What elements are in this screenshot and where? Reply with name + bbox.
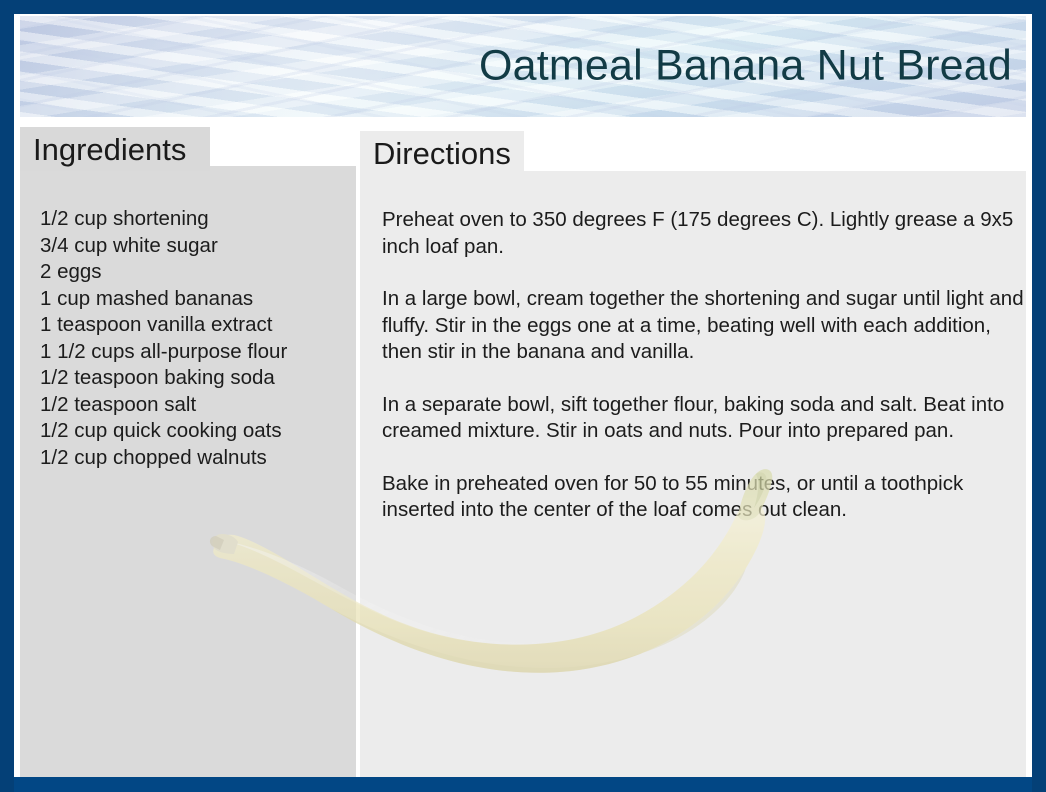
ingredients-list: 1/2 cup shortening 3/4 cup white sugar 2… [40, 206, 348, 471]
recipe-page: Oatmeal Banana Nut Bread 1/2 cup shorten… [14, 14, 1032, 777]
frame-border-left [0, 0, 14, 792]
list-item: 1/2 teaspoon salt [40, 392, 348, 419]
list-item: 1 teaspoon vanilla extract [40, 312, 348, 339]
ingredients-panel: 1/2 cup shortening 3/4 cup white sugar 2… [20, 166, 356, 777]
direction-step: Bake in preheated oven for 50 to 55 minu… [382, 471, 1032, 524]
ingredients-heading-tab: Ingredients [20, 127, 210, 171]
list-item: 1 1/2 cups all-purpose flour [40, 339, 348, 366]
page-title: Oatmeal Banana Nut Bread [479, 41, 1012, 90]
title-banner: Oatmeal Banana Nut Bread [20, 16, 1026, 117]
directions-steps: Preheat oven to 350 degrees F (175 degre… [382, 207, 1032, 524]
directions-panel: Preheat oven to 350 degrees F (175 degre… [360, 171, 1026, 777]
frame-border-right [1032, 0, 1046, 792]
directions-heading-label: Directions [373, 138, 511, 169]
recipe-card: Oatmeal Banana Nut Bread 1/2 cup shorten… [0, 0, 1046, 792]
list-item: 1/2 cup shortening [40, 206, 348, 233]
directions-heading-tab: Directions [360, 131, 524, 176]
frame-border-bottom [0, 777, 1046, 792]
direction-step: In a separate bowl, sift together flour,… [382, 392, 1032, 445]
list-item: 1 cup mashed bananas [40, 286, 348, 313]
frame-border-top [0, 0, 1046, 14]
direction-step: Preheat oven to 350 degrees F (175 degre… [382, 207, 1032, 260]
direction-step: In a large bowl, cream together the shor… [382, 286, 1032, 366]
list-item: 1/2 cup quick cooking oats [40, 418, 348, 445]
list-item: 1/2 teaspoon baking soda [40, 365, 348, 392]
list-item: 3/4 cup white sugar [40, 233, 348, 260]
ingredients-heading-label: Ingredients [33, 134, 186, 165]
list-item: 2 eggs [40, 259, 348, 286]
list-item: 1/2 cup chopped walnuts [40, 445, 348, 472]
